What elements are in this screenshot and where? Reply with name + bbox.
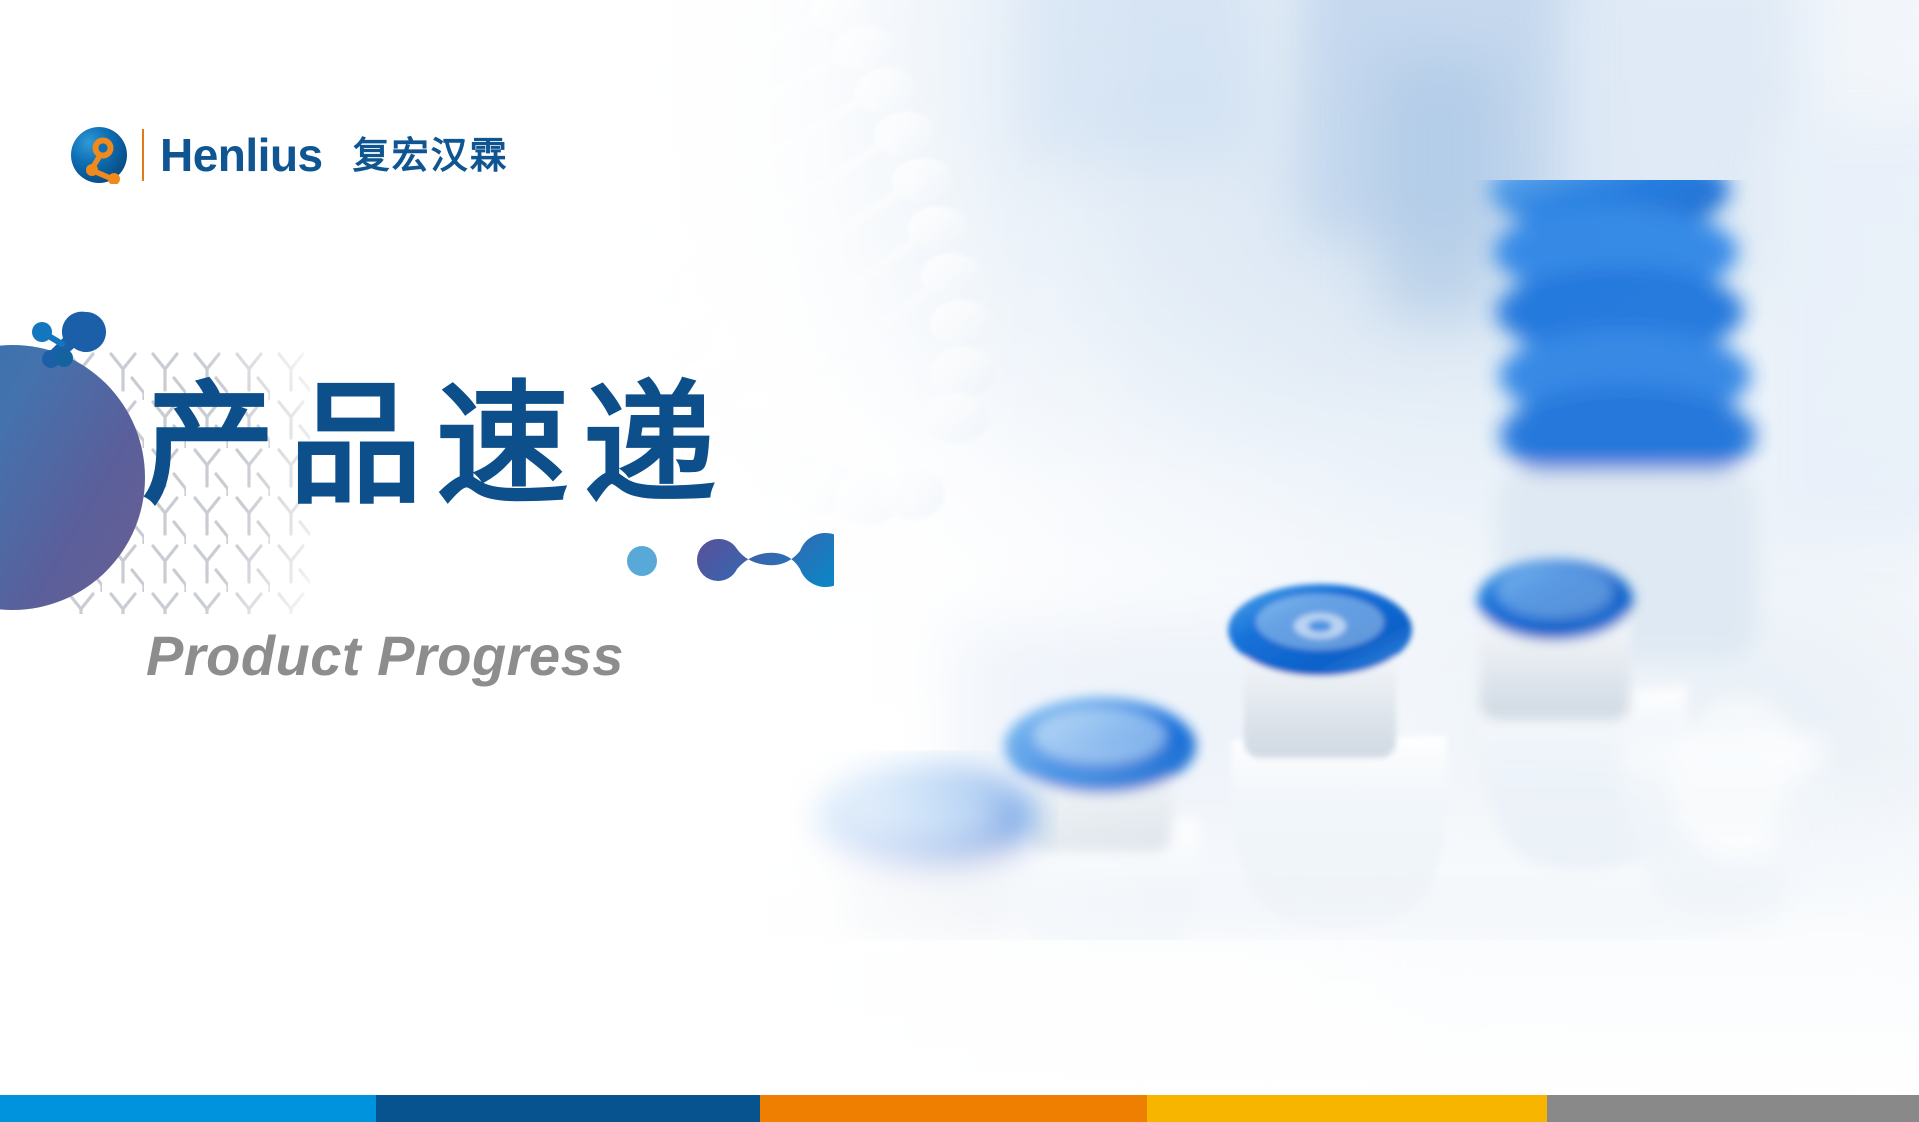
molecule-dumbbell-icon [694, 527, 834, 593]
page-subtitle: Product Progress [146, 628, 624, 684]
logo-divider [142, 129, 144, 181]
brand-color-bar [0, 1095, 1919, 1122]
color-bar-segment-light-blue [0, 1095, 376, 1122]
molecule-circle-logo-icon [70, 126, 128, 184]
color-bar-segment-dark-blue [376, 1095, 760, 1122]
color-bar-segment-orange [760, 1095, 1147, 1122]
brand-name-cn: 复宏汉霖 [353, 137, 509, 174]
color-bar-segment-amber [1147, 1095, 1547, 1122]
molecule-dot-icon [627, 546, 657, 576]
presentation-slide: Henlius 复宏汉霖 产品速递 Product Progress [0, 0, 1919, 1122]
page-title: 产品速递 [142, 375, 730, 519]
molecule-node-link-icon [28, 308, 132, 374]
brand-logo[interactable]: Henlius 复宏汉霖 [70, 124, 509, 186]
color-bar-segment-gray [1547, 1095, 1919, 1122]
brand-name-en: Henlius [160, 132, 323, 178]
